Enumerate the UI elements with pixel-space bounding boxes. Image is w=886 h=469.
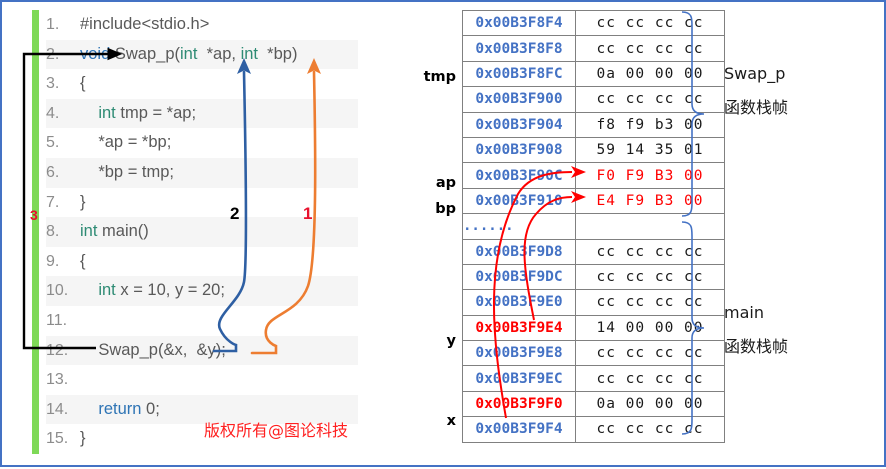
code-line: 5. *ap = *bp; xyxy=(46,128,358,158)
code-line-number: 15. xyxy=(46,424,80,454)
memory-address-cell: 0x00B3F8FC xyxy=(463,61,576,86)
code-line-text: int x = 10, y = 20; xyxy=(80,281,225,299)
memory-value-cell: 14 00 00 00 xyxy=(576,315,725,340)
code-line-text: Swap_p(&x, &y); xyxy=(80,341,226,359)
code-line-number: 3. xyxy=(46,69,80,99)
code-line: 4. int tmp = *ap; xyxy=(46,99,358,129)
memory-address-cell: 0x00B3F9F4 xyxy=(463,417,576,442)
variable-label-tmp: tmp xyxy=(424,69,456,85)
variable-label-y: y xyxy=(447,333,456,349)
code-line: 2.void Swap_p(int *ap, int *bp) xyxy=(46,40,358,70)
memory-row: 0x00B3F90CF0 F9 B3 00 xyxy=(463,163,725,188)
memory-value-cell: 0a 00 00 00 xyxy=(576,61,725,86)
code-line: 6. *bp = tmp; xyxy=(46,158,358,188)
code-line: 10. int x = 10, y = 20; xyxy=(46,276,358,306)
memory-value-cell: F0 F9 B3 00 xyxy=(576,163,725,188)
code-line-text: *ap = *bp; xyxy=(80,133,171,151)
memory-value-cell: E4 F9 B3 00 xyxy=(576,188,725,213)
code-line: 3.{ xyxy=(46,69,358,99)
frame-caption-swap-zh: 函数栈帧 xyxy=(724,94,788,118)
memory-address-cell: 0x00B3F8F4 xyxy=(463,11,576,36)
code-line: 1.#include<stdio.h> xyxy=(46,10,358,40)
code-line-text: { xyxy=(80,252,86,270)
memory-value-cell: cc cc cc cc xyxy=(576,11,725,36)
memory-row: 0x00B3F8F4cc cc cc cc xyxy=(463,11,725,36)
memory-value-cell: 0a 00 00 00 xyxy=(576,391,725,416)
memory-address-cell: 0x00B3F90C xyxy=(463,163,576,188)
memory-layout-panel: tmpapbpyx 0x00B3F8F4cc cc cc cc0x00B3F8F… xyxy=(414,8,882,458)
code-line-number: 5. xyxy=(46,128,80,158)
memory-value-cell: f8 f9 b3 00 xyxy=(576,112,725,137)
variable-label-column: tmpapbpyx xyxy=(414,10,458,450)
frame-caption-main-name: main xyxy=(724,303,764,322)
memory-address-cell: 0x00B3F9E0 xyxy=(463,290,576,315)
code-line-number: 12. xyxy=(46,336,80,366)
code-line-number: 11. xyxy=(46,306,80,336)
memory-row: 0x00B3F9F00a 00 00 00 xyxy=(463,391,725,416)
memory-row: 0x00B3F9DCcc cc cc cc xyxy=(463,264,725,289)
memory-value-cell: cc cc cc cc xyxy=(576,36,725,61)
memory-value-cell xyxy=(576,214,725,239)
code-line-number: 7. xyxy=(46,188,80,218)
code-line-text: #include<stdio.h> xyxy=(80,15,209,33)
memory-address-cell: 0x00B3F9D8 xyxy=(463,239,576,264)
memory-address-ellipsis: ...... xyxy=(463,214,576,239)
code-line-number: 1. xyxy=(46,10,80,40)
code-line: 12. Swap_p(&x, &y); xyxy=(46,336,358,366)
variable-label-ap: ap xyxy=(436,175,456,191)
code-line-number: 4. xyxy=(46,99,80,129)
memory-value-cell: 59 14 35 01 xyxy=(576,137,725,162)
code-line-text: int main() xyxy=(80,222,149,240)
memory-value-cell: cc cc cc cc xyxy=(576,239,725,264)
code-line-text: } xyxy=(80,429,86,447)
memory-address-cell: 0x00B3F904 xyxy=(463,112,576,137)
code-line-text: } xyxy=(80,193,86,211)
memory-address-cell: 0x00B3F9F0 xyxy=(463,391,576,416)
memory-row: ...... xyxy=(463,214,725,239)
memory-row: 0x00B3F904f8 f9 b3 00 xyxy=(463,112,725,137)
memory-row: 0x00B3F9E8cc cc cc cc xyxy=(463,341,725,366)
memory-value-cell: cc cc cc cc xyxy=(576,341,725,366)
variable-label-x: x xyxy=(447,413,456,429)
memory-address-cell: 0x00B3F9E8 xyxy=(463,341,576,366)
memory-row: 0x00B3F9F4cc cc cc cc xyxy=(463,417,725,442)
frame-caption-swap-name: Swap_p xyxy=(724,64,785,83)
memory-table: 0x00B3F8F4cc cc cc cc0x00B3F8F8cc cc cc … xyxy=(462,10,725,443)
memory-address-cell: 0x00B3F900 xyxy=(463,87,576,112)
code-line-number: 8. xyxy=(46,217,80,247)
variable-label-bp: bp xyxy=(435,201,456,217)
memory-address-cell: 0x00B3F9EC xyxy=(463,366,576,391)
code-line-number: 10. xyxy=(46,276,80,306)
code-line-number: 6. xyxy=(46,158,80,188)
code-panel: 1.#include<stdio.h>2.void Swap_p(int *ap… xyxy=(8,8,360,458)
code-line: 13. xyxy=(46,365,358,395)
code-line-text: return 0; xyxy=(80,400,160,418)
code-line-text: int tmp = *ap; xyxy=(80,104,196,122)
code-line-text: *bp = tmp; xyxy=(80,163,174,181)
memory-row: 0x00B3F9ECcc cc cc cc xyxy=(463,366,725,391)
code-line: 11. xyxy=(46,306,358,336)
code-line-number: 9. xyxy=(46,247,80,277)
memory-value-cell: cc cc cc cc xyxy=(576,290,725,315)
code-line-text: void Swap_p(int *ap, int *bp) xyxy=(80,45,297,63)
memory-address-cell: 0x00B3F908 xyxy=(463,137,576,162)
memory-row: 0x00B3F8FC0a 00 00 00 xyxy=(463,61,725,86)
memory-value-cell: cc cc cc cc xyxy=(576,87,725,112)
memory-address-cell: 0x00B3F8F8 xyxy=(463,36,576,61)
code-line-number: 2. xyxy=(46,40,80,70)
memory-row: 0x00B3F9E0cc cc cc cc xyxy=(463,290,725,315)
memory-row: 0x00B3F900cc cc cc cc xyxy=(463,87,725,112)
memory-address-cell: 0x00B3F9E4 xyxy=(463,315,576,340)
code-line-text: { xyxy=(80,74,86,92)
memory-row: 0x00B3F8F8cc cc cc cc xyxy=(463,36,725,61)
memory-row: 0x00B3F910E4 F9 B3 00 xyxy=(463,188,725,213)
memory-row: 0x00B3F9D8cc cc cc cc xyxy=(463,239,725,264)
memory-row: 0x00B3F90859 14 35 01 xyxy=(463,137,725,162)
memory-value-cell: cc cc cc cc xyxy=(576,417,725,442)
diagram-root: 1.#include<stdio.h>2.void Swap_p(int *ap… xyxy=(0,0,886,467)
arrow-label-1: 1 xyxy=(303,204,312,224)
memory-value-cell: cc cc cc cc xyxy=(576,366,725,391)
code-line-number: 14. xyxy=(46,395,80,425)
memory-value-cell: cc cc cc cc xyxy=(576,264,725,289)
frame-caption-main-zh: 函数栈帧 xyxy=(724,333,788,357)
memory-address-cell: 0x00B3F9DC xyxy=(463,264,576,289)
memory-row: 0x00B3F9E414 00 00 00 xyxy=(463,315,725,340)
code-line: 9.{ xyxy=(46,247,358,277)
memory-address-cell: 0x00B3F910 xyxy=(463,188,576,213)
call-marker-label: 3 xyxy=(30,207,38,223)
memory-table-body: 0x00B3F8F4cc cc cc cc0x00B3F8F8cc cc cc … xyxy=(463,11,725,443)
scope-marker-bar xyxy=(32,10,39,454)
arrow-label-2: 2 xyxy=(230,204,239,224)
code-line-number: 13. xyxy=(46,365,80,395)
watermark-text: 版权所有@图论科技 xyxy=(204,417,348,441)
